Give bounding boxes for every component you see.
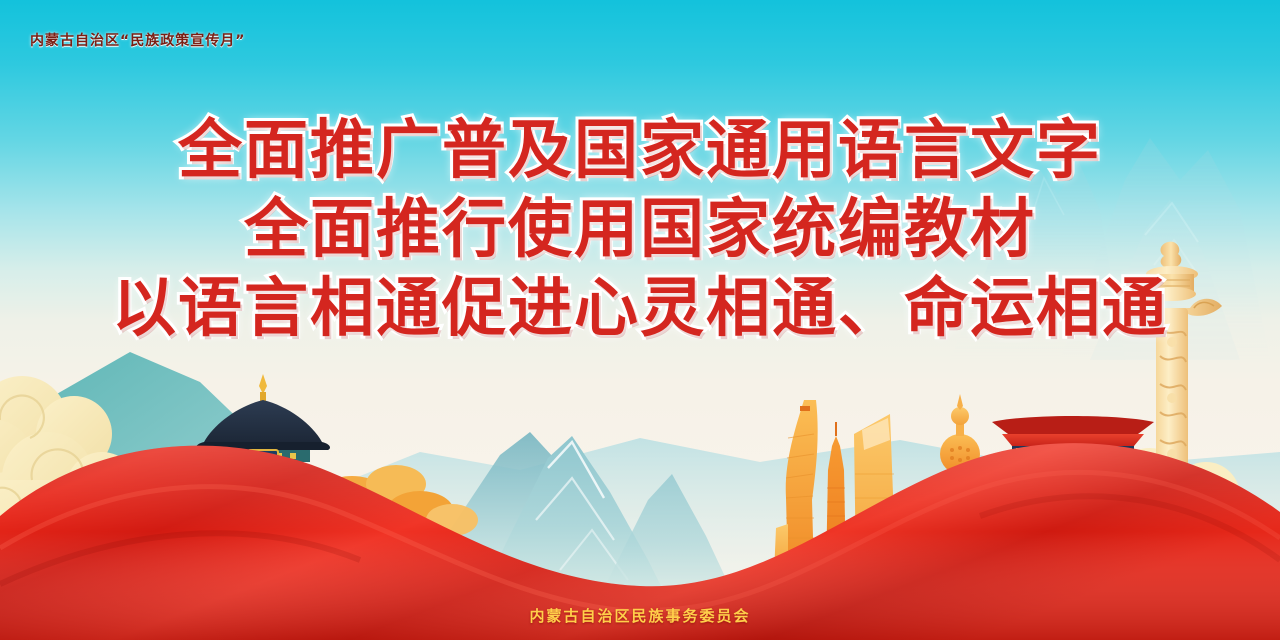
poster-canvas: 全面推广普及国家通用语言文字 全面推行使用国家统编教材 以语言相通促进心灵相通、… — [0, 0, 1280, 640]
footer-organization: 内蒙古自治区民族事务委员会 — [0, 605, 1280, 626]
title-block: 全面推广普及国家通用语言文字 全面推行使用国家统编教材 以语言相通促进心灵相通、… — [0, 118, 1280, 344]
title-line-2-text: 全面推行使用国家统编教材 — [244, 193, 1036, 267]
title-line-1: 全面推广普及国家通用语言文字 — [0, 118, 1280, 185]
title-line-1-text: 全面推广普及国家通用语言文字 — [178, 114, 1102, 188]
campaign-header-tag: 内蒙古自治区“民族政策宣传月” — [30, 30, 245, 50]
title-line-3-text: 以语言相通促进心灵相通、命运相通 — [112, 272, 1168, 346]
title-line-3: 以语言相通促进心灵相通、命运相通 — [0, 276, 1280, 343]
title-line-2: 全面推行使用国家统编教材 — [0, 197, 1280, 264]
